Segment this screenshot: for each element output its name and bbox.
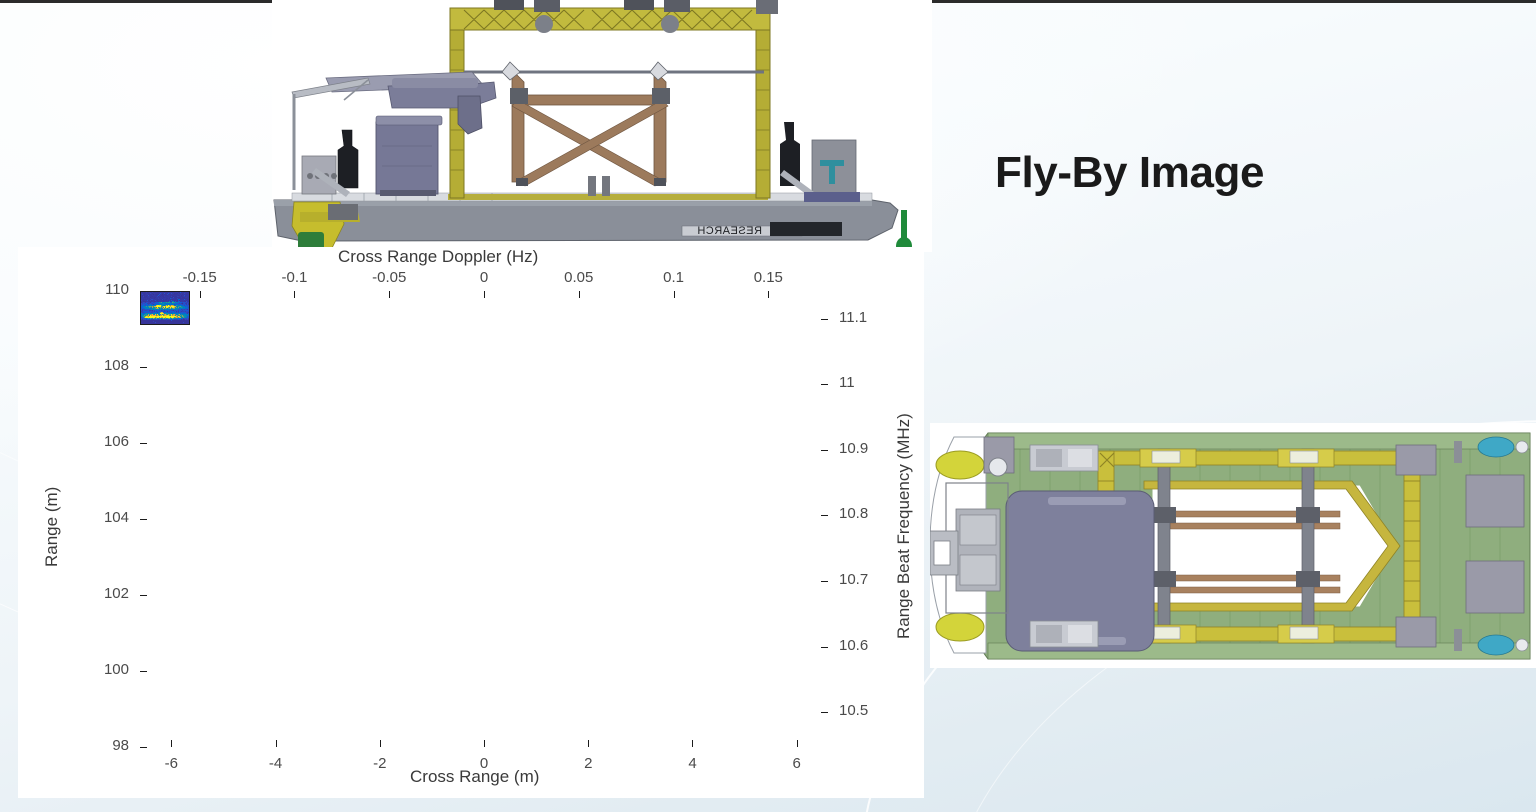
tick-mark [821,319,828,320]
y-tick-0: 98 [112,737,129,754]
top-axis-title: Cross Range Doppler (Hz) [338,247,538,267]
x-tick-2: -2 [373,755,386,772]
y-tick-1: 100 [104,661,129,678]
y2-tick-2: 10.7 [839,571,868,588]
x-tick-0: -6 [165,755,178,772]
tick-mark [140,595,147,596]
y-tick-6: 110 [105,281,129,298]
tick-mark [380,740,381,747]
isar-heatmap-canvas [140,291,190,325]
tick-mark [821,450,828,451]
tick-mark [140,519,147,520]
x2-tick-0: -0.15 [183,269,217,286]
y2-tick-5: 11 [839,374,855,391]
tick-mark [276,740,277,747]
tick-mark [140,443,147,444]
y-tick-2: 102 [104,585,129,602]
x2-tick-6: 0.15 [754,269,783,286]
tick-mark [484,291,485,298]
right-axis-title: Range Beat Frequency (MHz) [894,413,914,639]
tick-mark [200,291,201,298]
tick-mark [768,291,769,298]
tick-mark [797,740,798,747]
x2-tick-5: 0.1 [663,269,684,286]
tick-mark [674,291,675,298]
slide-title: Fly-By Image [995,148,1264,198]
tick-mark [821,581,828,582]
tick-mark [588,740,589,747]
y2-tick-6: 11.1 [839,309,867,326]
tick-mark [140,747,147,748]
tick-mark [140,367,147,368]
tick-mark [821,647,828,648]
tick-mark [579,291,580,298]
isar-figure-panel: Cross Range Doppler (Hz) -0.15-0.1-0.050… [18,247,924,798]
y-tick-4: 106 [104,433,129,450]
tick-mark [294,291,295,298]
x2-tick-2: -0.05 [372,269,406,286]
heatmap-plot-area [140,291,828,747]
y2-tick-1: 10.6 [839,637,868,654]
x-tick-6: 6 [793,755,801,772]
tick-mark [140,671,147,672]
x2-tick-1: -0.1 [282,269,308,286]
y2-tick-0: 10.5 [839,702,868,719]
bottom-axis-title: Cross Range (m) [410,767,539,787]
research-vessel-top-view-image [930,423,1536,668]
liferaft-starboard [936,613,984,641]
presentation-slide: Fly-By Image RESEARCH [0,0,1536,812]
tick-mark [821,515,828,516]
y-tick-3: 104 [104,509,129,526]
x-tick-5: 4 [688,755,696,772]
tick-mark [692,740,693,747]
x-tick-1: -4 [269,755,282,772]
hull-name-text: RESEARCH [697,225,762,237]
y-tick-5: 108 [104,357,129,374]
tick-mark [171,740,172,747]
left-axis-title: Range (m) [42,487,62,567]
tick-mark [140,291,147,292]
liferaft-port [936,451,984,479]
x2-tick-3: 0 [480,269,488,286]
tick-mark [821,712,828,713]
x-tick-4: 2 [584,755,592,772]
tick-mark [389,291,390,298]
tick-mark [484,740,485,747]
y2-tick-4: 10.9 [839,440,868,457]
research-vessel-side-view-image: RESEARCH [272,0,932,252]
x2-tick-4: 0.05 [564,269,593,286]
tick-mark [821,384,828,385]
y2-tick-3: 10.8 [839,505,868,522]
